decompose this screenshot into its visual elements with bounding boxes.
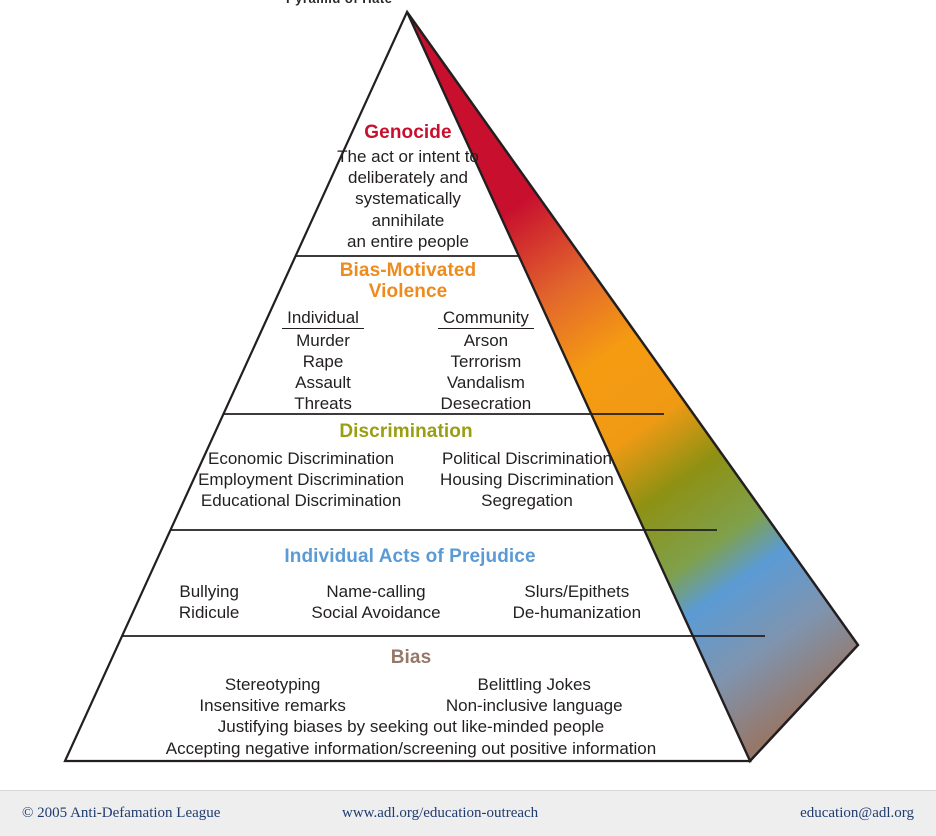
tier-discrimination-body: Economic Discrimination Employment Discr… xyxy=(176,448,636,511)
column-item: Social Avoidance xyxy=(311,602,440,623)
tier-prejudice-body: Bullying Ridicule Name-calling Social Av… xyxy=(122,581,698,623)
column-item: Bullying xyxy=(179,581,239,602)
tier-genocide-line: The act or intent to xyxy=(268,146,548,167)
column-item: Arson xyxy=(438,330,534,351)
footer: © 2005 Anti-Defamation League www.adl.or… xyxy=(0,790,936,836)
tier-bias-column-right: Belittling Jokes Non-inclusive language xyxy=(446,674,623,716)
tier-genocide-line: deliberately and xyxy=(268,167,548,188)
column-item: Threats xyxy=(282,393,364,414)
tier-bias-column-left: Stereotyping Insensitive remarks xyxy=(199,674,345,716)
column-item: Ridicule xyxy=(179,602,239,623)
tier-bias-motivated-violence: Bias-Motivated Violence Individual Murde… xyxy=(236,260,580,414)
column-item: Belittling Jokes xyxy=(446,674,623,695)
tier-prejudice-column-1: Bullying Ridicule xyxy=(179,581,239,623)
column-item: Political Discrimination xyxy=(440,448,614,469)
tier-genocide-body: The act or intent to deliberately and sy… xyxy=(268,146,548,251)
column-item: Employment Discrimination xyxy=(198,469,404,490)
tier-individual-acts-of-prejudice: Individual Acts of Prejudice Bullying Ri… xyxy=(122,546,698,623)
tier-genocide-heading: Genocide xyxy=(268,122,548,143)
tier-discrimination-heading: Discrimination xyxy=(176,421,636,442)
column-header: Individual xyxy=(282,307,364,329)
tier-bias-wide-lines: Justifying biases by seeking out like-mi… xyxy=(82,716,740,758)
column-item: Stereotyping xyxy=(199,674,345,695)
column-item: Non-inclusive language xyxy=(446,695,623,716)
column-item: Insensitive remarks xyxy=(199,695,345,716)
tier-genocide: Genocide The act or intent to deliberate… xyxy=(268,122,548,252)
tier-violence-column-individual: Individual Murder Rape Assault Threats xyxy=(282,307,364,414)
column-item: Terrorism xyxy=(438,351,534,372)
tier-bias: Bias Stereotyping Insensitive remarks Be… xyxy=(82,647,740,759)
tier-discrimination-column-left: Economic Discrimination Employment Discr… xyxy=(198,448,404,511)
tier-prejudice-heading: Individual Acts of Prejudice xyxy=(122,546,698,567)
column-header: Community xyxy=(438,307,534,329)
tier-genocide-line: systematically xyxy=(268,188,548,209)
wide-line: Justifying biases by seeking out like-mi… xyxy=(82,716,740,737)
tier-violence-body: Individual Murder Rape Assault Threats C… xyxy=(236,307,580,414)
column-item: De-humanization xyxy=(513,602,642,623)
footer-copyright: © 2005 Anti-Defamation League xyxy=(22,805,220,822)
column-item: Desecration xyxy=(438,393,534,414)
tier-violence-heading: Bias-Motivated Violence xyxy=(236,260,580,303)
column-item: Segregation xyxy=(440,490,614,511)
column-item: Murder xyxy=(282,330,364,351)
column-item: Name-calling xyxy=(311,581,440,602)
pyramid-of-hate-figure: Pyramid of Hate G xyxy=(0,0,936,836)
tier-genocide-line: an entire people xyxy=(268,231,548,252)
tier-bias-body-columns: Stereotyping Insensitive remarks Belittl… xyxy=(82,674,740,716)
column-item: Slurs/Epithets xyxy=(513,581,642,602)
tier-discrimination-column-right: Political Discrimination Housing Discrim… xyxy=(440,448,614,511)
tier-prejudice-column-3: Slurs/Epithets De-humanization xyxy=(513,581,642,623)
tier-genocide-line: annihilate xyxy=(268,210,548,231)
wide-line: Accepting negative information/screening… xyxy=(82,738,740,759)
column-item: Economic Discrimination xyxy=(198,448,404,469)
column-item: Assault xyxy=(282,372,364,393)
tier-discrimination: Discrimination Economic Discrimination E… xyxy=(176,421,636,512)
column-item: Housing Discrimination xyxy=(440,469,614,490)
tier-bias-heading: Bias xyxy=(82,647,740,668)
tier-violence-column-community: Community Arson Terrorism Vandalism Dese… xyxy=(438,307,534,414)
column-item: Rape xyxy=(282,351,364,372)
column-item: Educational Discrimination xyxy=(198,490,404,511)
tier-violence-heading-line: Bias-Motivated xyxy=(236,260,580,281)
footer-email-link[interactable]: education@adl.org xyxy=(800,805,914,822)
footer-website-link[interactable]: www.adl.org/education-outreach xyxy=(342,805,538,822)
tier-violence-heading-line: Violence xyxy=(236,281,580,302)
column-item: Vandalism xyxy=(438,372,534,393)
tier-prejudice-column-2: Name-calling Social Avoidance xyxy=(311,581,440,623)
